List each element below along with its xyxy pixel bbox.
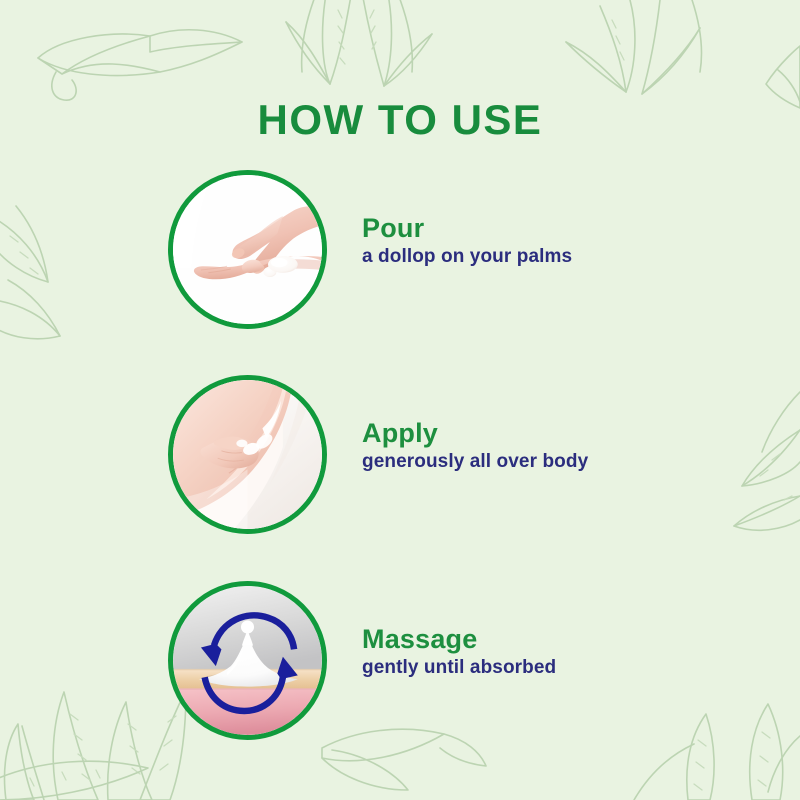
deco-leaf-top-left bbox=[38, 30, 242, 100]
deco-plant-top-right bbox=[566, 0, 702, 94]
how-to-use-poster: HOW TO USE bbox=[0, 0, 800, 800]
skin-absorption-diagram bbox=[173, 586, 322, 735]
hands-with-cream-illustration bbox=[173, 175, 322, 324]
step-item-pour: Pour a dollop on your palms bbox=[0, 170, 800, 340]
step-item-apply: Apply generously all over body bbox=[0, 375, 800, 545]
deco-plant-top-center bbox=[286, 0, 432, 86]
step-image-apply bbox=[168, 375, 327, 534]
arm-application-illustration bbox=[173, 380, 322, 529]
step-image-pour bbox=[168, 170, 327, 329]
step-item-massage: Massage gently until absorbed bbox=[0, 581, 800, 751]
step-image-massage bbox=[168, 581, 327, 740]
page-title: HOW TO USE bbox=[0, 96, 800, 144]
